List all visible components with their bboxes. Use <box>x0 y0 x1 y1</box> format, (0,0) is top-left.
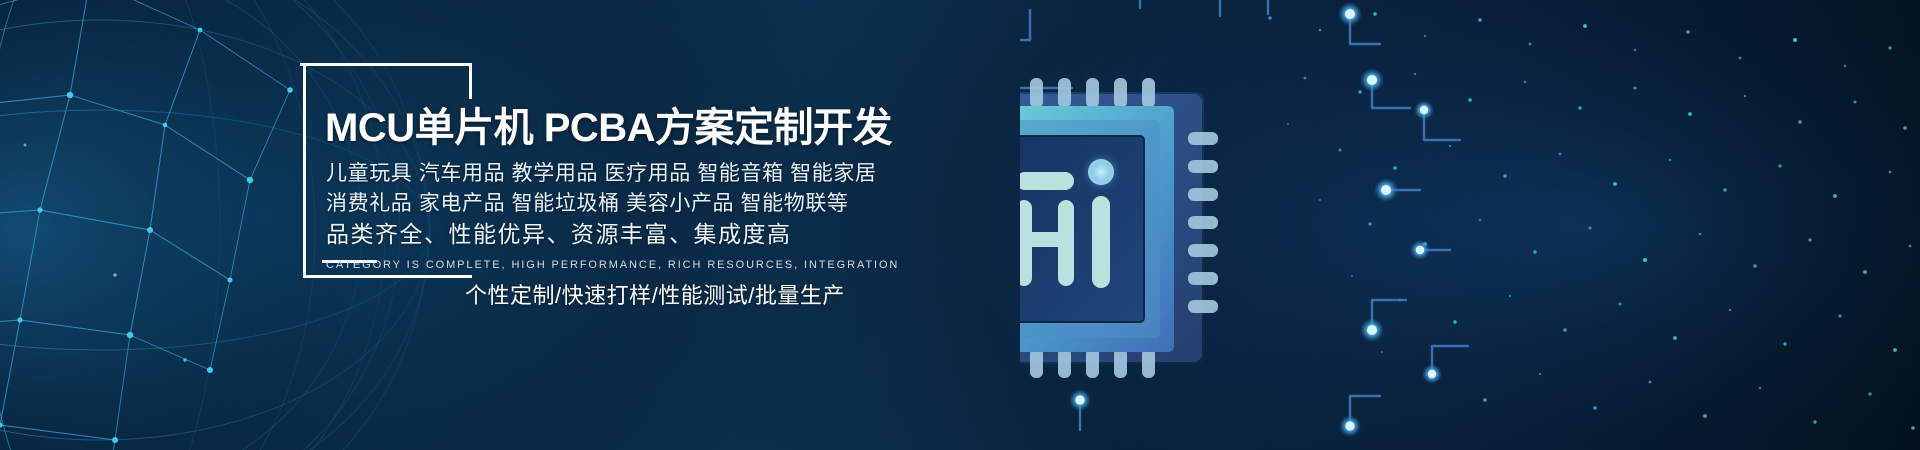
slogan-chinese: 品类齐全、性能优异、资源丰富、集成度高 <box>326 223 792 246</box>
frame-left-border <box>303 63 306 278</box>
frame-top-border <box>300 63 472 66</box>
slogan-english: CATEGORY IS COMPLETE, HIGH PERFORMANCE, … <box>326 260 899 271</box>
services-tagline: 个性定制/快速打样/性能测试/批量生产 <box>465 285 845 307</box>
category-line-2: 消费礼品 家电产品 智能垃圾桶 美容小产品 智能物联等 <box>326 193 849 214</box>
category-line-1: 儿童玩具 汽车用品 教学用品 医疗用品 智能音箱 智能家居 <box>326 163 877 184</box>
promo-banner: MCU单片机 PCBA方案定制开发 儿童玩具 汽车用品 教学用品 医疗用品 智能… <box>0 0 1920 450</box>
page-title: MCU单片机 PCBA方案定制开发 <box>325 108 892 148</box>
frame-bottom-border <box>303 275 472 278</box>
frame-right-stub <box>469 63 472 99</box>
banner-content: MCU单片机 PCBA方案定制开发 儿童玩具 汽车用品 教学用品 医疗用品 智能… <box>300 60 920 310</box>
chip-circuit-graphic <box>1020 0 1580 450</box>
